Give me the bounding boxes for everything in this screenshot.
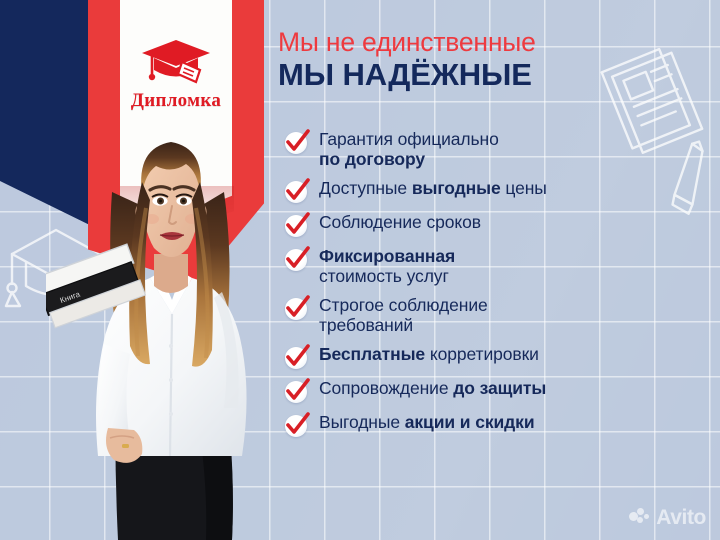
check-icon (284, 129, 310, 155)
benefit-bold: Фиксированная (319, 246, 455, 266)
benefit-bold: акции и скидки (405, 412, 535, 432)
check-icon (284, 246, 310, 272)
benefit-plain-1: Выгодные (319, 412, 405, 432)
advertisement-banner: Дипломка (0, 0, 720, 540)
benefit-text: Строгое соблюдение требований (319, 294, 488, 336)
benefit-text: Фиксированная стоимость услуг (319, 245, 455, 287)
avito-dots-logo-icon (629, 508, 651, 528)
benefit-text: Гарантия официально по договору (319, 128, 499, 170)
check-icon (284, 378, 310, 404)
avito-watermark-text: Avito (656, 506, 706, 530)
headline-line-2: МЫ НАДЁЖНЫЕ (278, 58, 698, 93)
check-icon (284, 178, 310, 204)
benefit-plain-2: требований (319, 315, 413, 335)
benefit-bold: до защиты (453, 378, 546, 398)
avito-watermark: Avito (629, 506, 706, 530)
benefit-text: Бесплатные корретировки (319, 343, 539, 364)
headline-line-1: Мы не единственные (278, 28, 698, 57)
benefit-item: Гарантия официально по договору (284, 128, 704, 170)
benefit-bold: выгодные (412, 178, 501, 198)
benefit-text: Соблюдение сроков (319, 211, 481, 232)
benefit-text: Доступные выгодные цены (319, 177, 547, 198)
graduation-cap-diploma-icon (138, 36, 214, 88)
check-icon (284, 412, 310, 438)
benefit-bold: Бесплатные (319, 344, 425, 364)
benefit-plain-2: корретировки (425, 344, 539, 364)
benefit-item: Сопровождение до защиты (284, 377, 704, 404)
benefit-item: Доступные выгодные цены (284, 177, 704, 204)
benefit-item: Соблюдение сроков (284, 211, 704, 238)
benefit-plain-2: стоимость услуг (319, 266, 449, 286)
benefit-bold: по договору (319, 149, 425, 169)
benefit-item: Бесплатные корретировки (284, 343, 704, 370)
benefit-text: Выгодные акции и скидки (319, 411, 534, 432)
check-icon (284, 344, 310, 370)
check-icon (284, 212, 310, 238)
benefit-plain-1: Строгое соблюдение (319, 295, 488, 315)
benefit-item: Выгодные акции и скидки (284, 411, 704, 438)
check-icon (284, 295, 310, 321)
benefit-plain-1: Гарантия официально (319, 129, 499, 149)
benefit-item: Фиксированная стоимость услуг (284, 245, 704, 287)
benefit-item: Строгое соблюдение требований (284, 294, 704, 336)
headline: Мы не единственные МЫ НАДЁЖНЫЕ (278, 28, 698, 93)
benefit-plain-2: цены (501, 178, 547, 198)
benefit-plain-1: Доступные (319, 178, 412, 198)
photo-woman-with-books: Книга (46, 108, 296, 540)
benefit-text: Сопровождение до защиты (319, 377, 546, 398)
benefit-plain-1: Сопровождение (319, 378, 453, 398)
brand-logo: Дипломка (120, 36, 232, 112)
benefits-list: Гарантия официально по договору Доступны… (284, 128, 704, 445)
